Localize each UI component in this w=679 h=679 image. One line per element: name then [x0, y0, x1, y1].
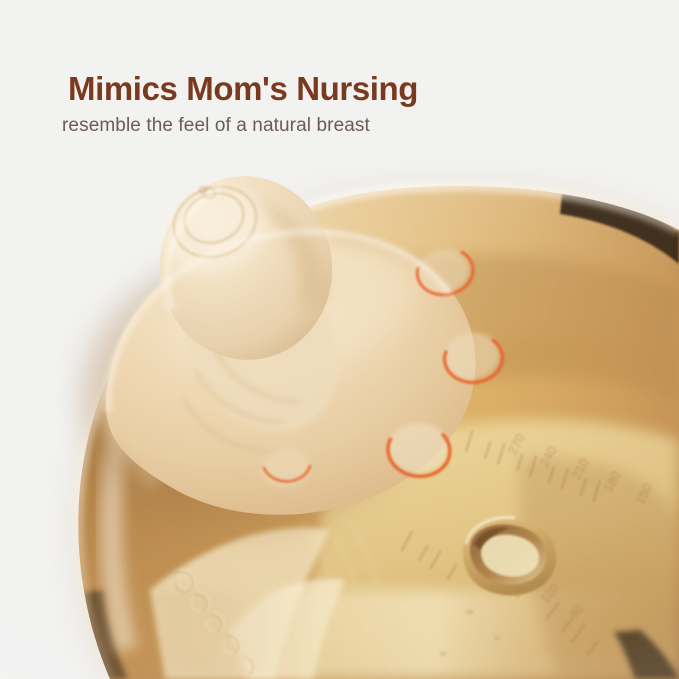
page-title: Mimics Mom's Nursing: [68, 70, 418, 108]
edge-fade-top: [0, 160, 679, 170]
nipple-emboss-2: ·····: [230, 469, 250, 483]
page-subtitle: resemble the feel of a natural breast: [62, 115, 370, 137]
product-image: 270 240 210 180 150 120 90: [0, 160, 679, 679]
bottle-illustration: 270 240 210 180 150 120 90: [0, 160, 679, 679]
product-banner: 270 240 210 180 150 120 90: [0, 0, 679, 679]
